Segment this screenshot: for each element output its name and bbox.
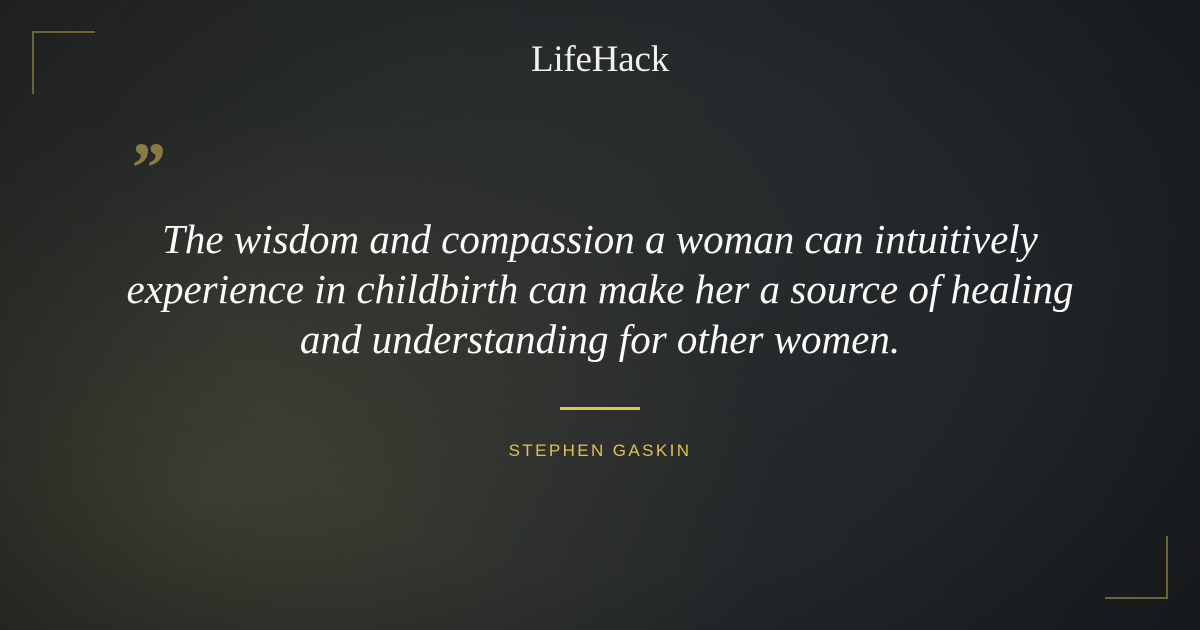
quote-card: LifeHack ” The wisdom and compassion a w… <box>0 0 1200 630</box>
divider-rule <box>560 407 640 410</box>
quote-line: and understanding for other women. <box>100 314 1100 364</box>
quote-author: STEPHEN GASKIN <box>0 439 1200 463</box>
corner-bracket-bottom-right-icon <box>1105 536 1168 599</box>
quotation-mark-icon: ” <box>128 132 164 204</box>
quote-text: The wisdom and compassion a woman can in… <box>100 214 1100 364</box>
divider <box>0 407 1200 410</box>
quote-line: The wisdom and compassion a woman can in… <box>100 214 1100 264</box>
quote-line: experience in childbirth can make her a … <box>100 264 1100 314</box>
brand-logo[interactable]: LifeHack <box>0 38 1200 82</box>
